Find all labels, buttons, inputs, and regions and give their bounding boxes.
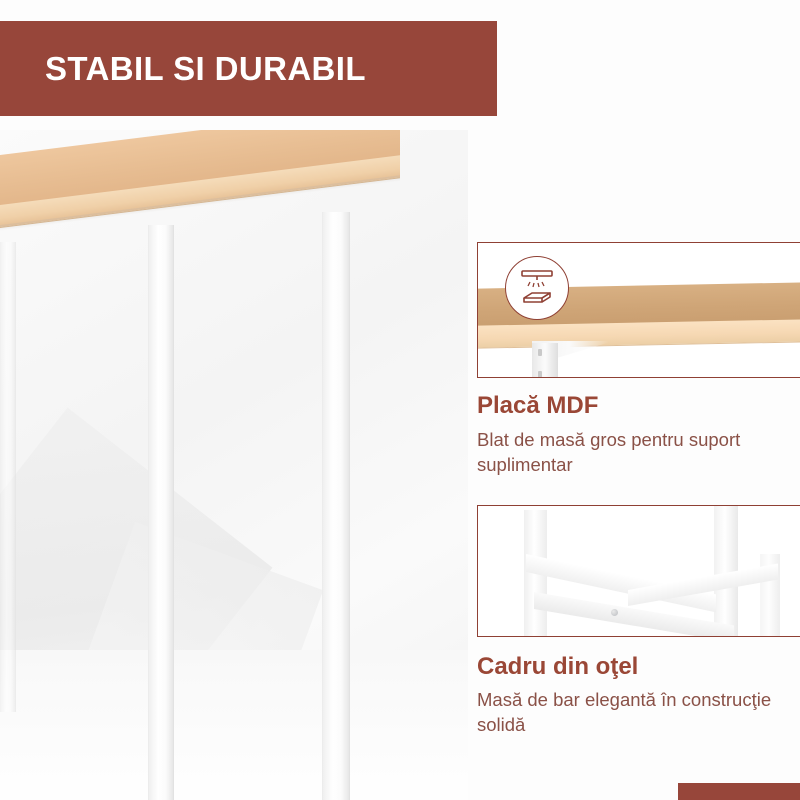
- feature-heading-steel: Cadru din oţel: [477, 653, 638, 681]
- header-banner: STABIL SI DURABIL: [0, 21, 497, 116]
- brand-accent-bar: [678, 783, 800, 800]
- screw-icon: [611, 609, 618, 616]
- feature-photo-steel: [477, 505, 800, 637]
- screw-icon: [538, 349, 542, 356]
- infographic-canvas: STABIL SI DURABIL: [0, 0, 800, 800]
- table-leg-back: [322, 212, 350, 800]
- table-leg-front: [148, 225, 174, 800]
- screw-icon: [538, 371, 542, 378]
- hero-product-image: [0, 130, 468, 800]
- background-facet: [0, 650, 468, 800]
- table-leg-far: [0, 242, 16, 712]
- feature-description-mdf: Blat de masă gros pentru suport suplimen…: [477, 428, 777, 478]
- press-board-icon: [505, 256, 569, 320]
- feature-heading-mdf: Placă MDF: [477, 392, 598, 420]
- mdf-support-bracket: [532, 343, 558, 378]
- page-title: STABIL SI DURABIL: [45, 50, 366, 88]
- feature-photo-mdf: [477, 242, 800, 378]
- feature-description-steel: Masă de bar elegantă în construcţie soli…: [477, 688, 777, 738]
